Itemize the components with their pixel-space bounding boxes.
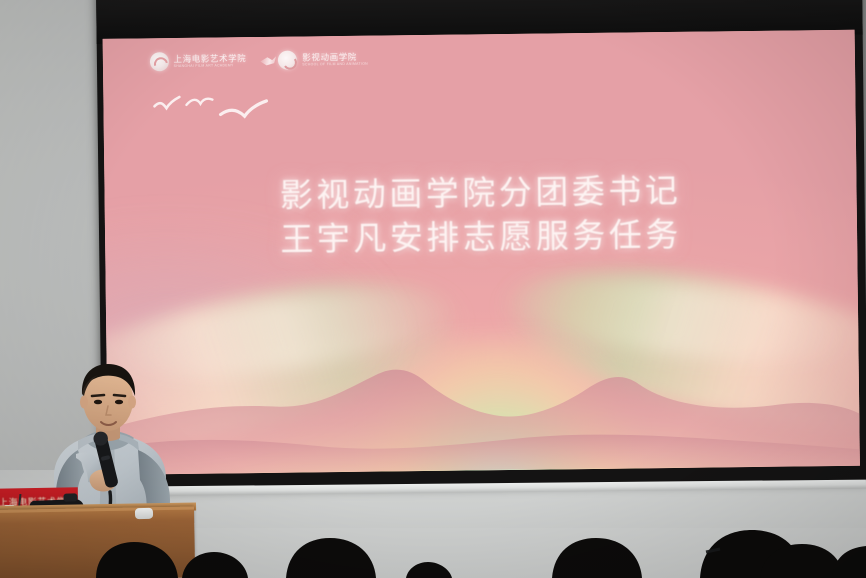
- slide-logos: 上海电影艺术学院 SHANGHAI FILM ART ACADEMY 影视动画学…: [149, 50, 368, 72]
- mountain-silhouette: [106, 300, 860, 475]
- slide-headline: 影视动画学院分团委书记 王宇凡安排志愿服务任务: [104, 167, 857, 264]
- projected-slide: 上海电影艺术学院 SHANGHAI FILM ART ACADEMY 影视动画学…: [103, 30, 860, 475]
- bird-silhouettes: [148, 87, 279, 131]
- school-emblem-icon: [278, 51, 297, 70]
- logo-university-en: SHANGHAI FILM ART ACADEMY: [174, 65, 247, 69]
- logo-university: 上海电影艺术学院 SHANGHAI FILM ART ACADEMY: [149, 52, 246, 72]
- logo-school-cn: 影视动画学院: [302, 53, 368, 62]
- swirl-logo-icon: [149, 52, 168, 71]
- logo-school: 影视动画学院 SCHOOL OF FILM AND ANIMATION: [260, 50, 368, 70]
- logo-school-en: SCHOOL OF FILM AND ANIMATION: [302, 63, 368, 67]
- audience-silhouettes: [0, 486, 866, 578]
- headline-line-2: 王宇凡安排志愿服务任务: [105, 211, 857, 264]
- logo-university-cn: 上海电影艺术学院: [173, 54, 246, 63]
- lecture-hall-photo: 上海电影艺术学院 SHANGHAI FILM ART ACADEMY 影视动画学…: [0, 0, 866, 578]
- wing-logo-icon: [260, 55, 276, 66]
- projection-screen-frame: 上海电影艺术学院 SHANGHAI FILM ART ACADEMY 影视动画学…: [96, 0, 866, 490]
